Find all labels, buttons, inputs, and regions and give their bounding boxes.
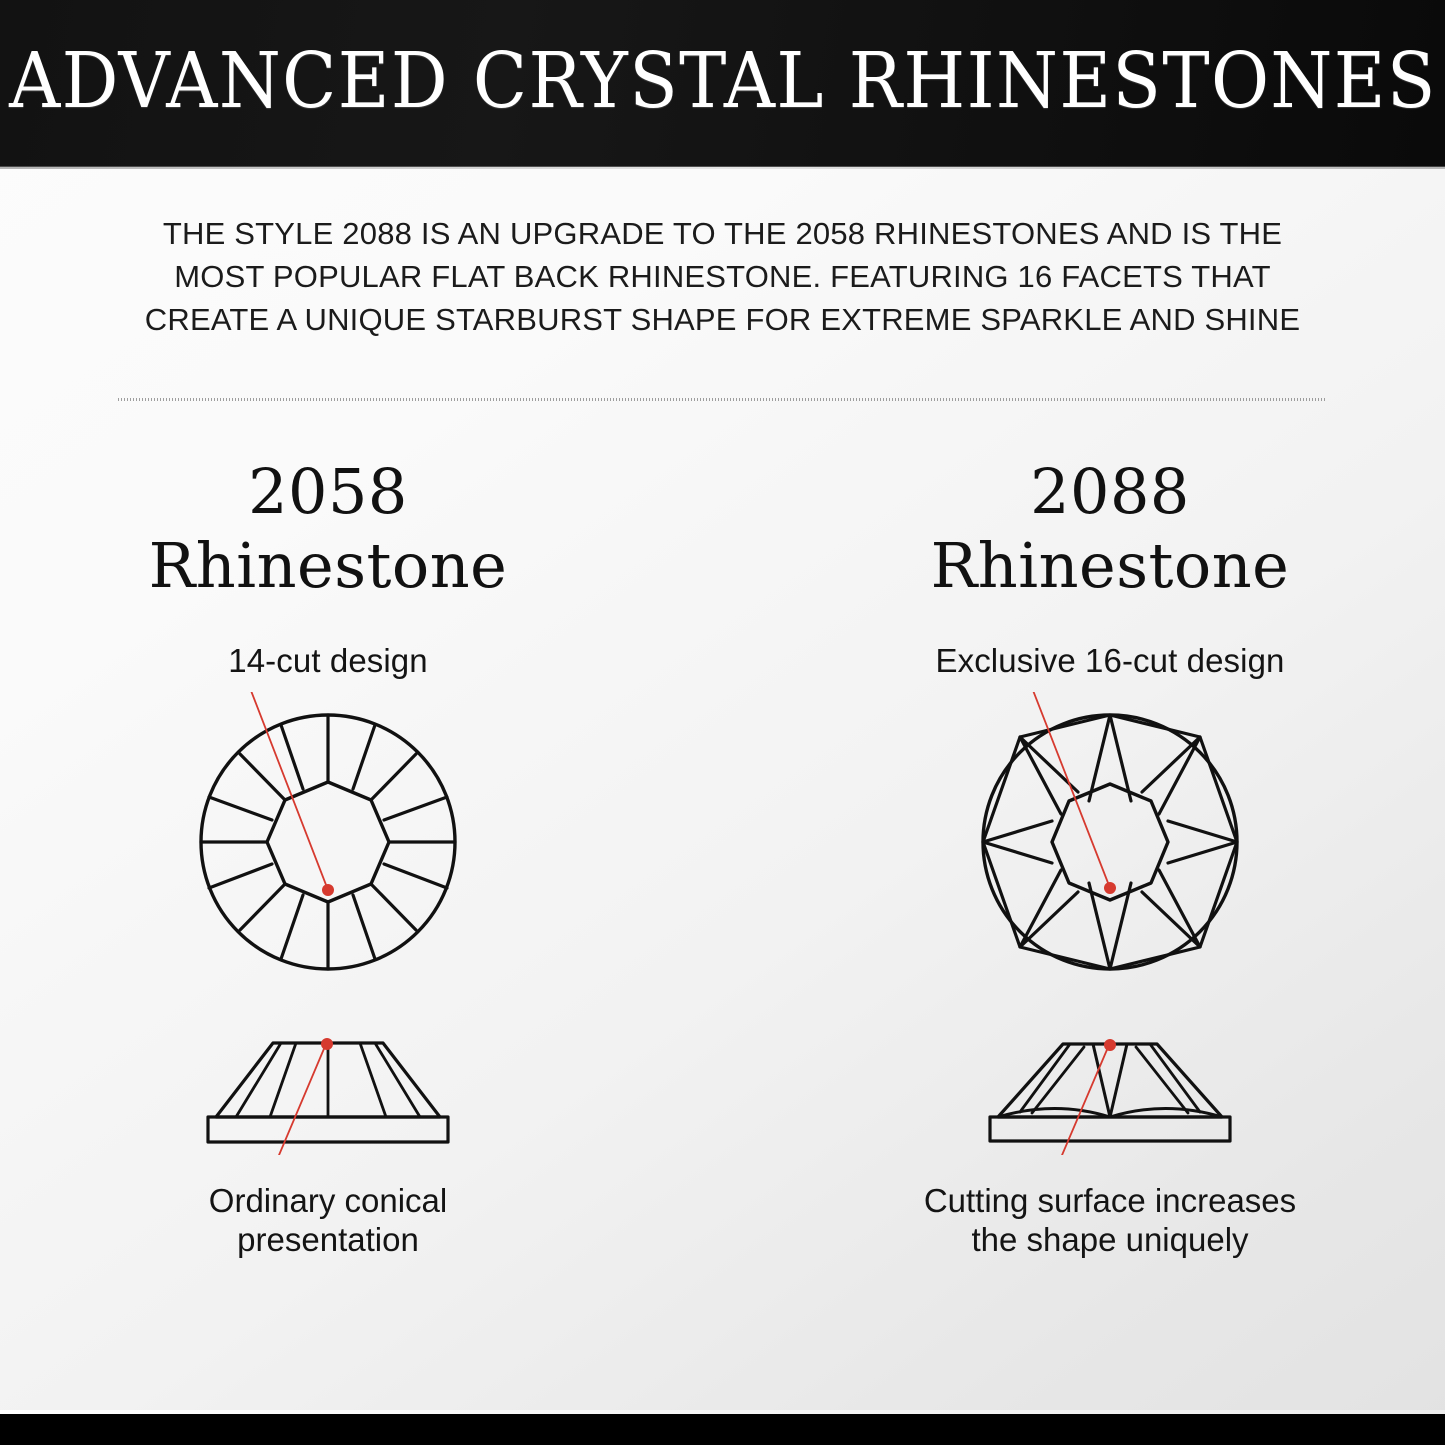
page-title: ADVANCED CRYSTAL RHINESTONES	[9, 43, 1437, 124]
crown-outline-2088	[998, 1044, 1222, 1117]
diagram-2088-side	[960, 1020, 1260, 1155]
footer-bar	[0, 1414, 1445, 1445]
side-facets-2088	[1020, 1044, 1200, 1113]
diagram-2058-side	[178, 1020, 478, 1155]
intro-line-3: CREATE A UNIQUE STARBURST SHAPE FOR EXTR…	[92, 298, 1353, 341]
column-2088-title: 2088 Rhinestone	[790, 455, 1430, 603]
intro-line-1: THE STYLE 2088 IS AN UPGRADE TO THE 2058…	[92, 212, 1353, 255]
intro-line-2: MOST POPULAR FLAT BACK RHINESTONE. FEATU…	[92, 255, 1353, 298]
header-banner: ADVANCED CRYSTAL RHINESTONES	[0, 0, 1445, 167]
center-notch-2088	[1093, 1044, 1127, 1117]
caption-2058-line-2: presentation	[8, 1220, 648, 1259]
cut-label-2058: 14-cut design	[8, 642, 648, 680]
facet-lines-2058	[201, 715, 455, 969]
diagram-2058-top	[163, 692, 493, 982]
sideview-2088	[790, 1020, 1430, 1155]
column-2088-title-word: Rhinestone	[790, 529, 1430, 603]
pointer-dot-side-2058	[321, 1038, 333, 1050]
sideview-2058	[8, 1020, 648, 1155]
base-slab-2058	[208, 1117, 448, 1142]
header-underline	[0, 166, 1445, 169]
section-divider	[118, 398, 1326, 401]
column-2088-title-number: 2088	[1030, 455, 1190, 528]
base-slab-2088	[990, 1117, 1230, 1141]
pointer-dot-2088	[1104, 882, 1116, 894]
topview-2058	[8, 692, 648, 972]
column-2058-title-number: 2058	[248, 455, 408, 528]
pointer-dot-2058	[322, 884, 334, 896]
caption-2058: Ordinary conical presentation	[8, 1181, 648, 1259]
infographic-page: ADVANCED CRYSTAL RHINESTONES THE STYLE 2…	[0, 0, 1445, 1445]
column-2058-title: 2058 Rhinestone	[8, 455, 648, 603]
cut-label-2088: Exclusive 16-cut design	[790, 642, 1430, 680]
column-2088: 2088 Rhinestone Exclusive 16-cut design	[790, 455, 1430, 1259]
topview-2088	[790, 692, 1430, 972]
column-2058-title-word: Rhinestone	[8, 529, 648, 603]
caption-2088: Cutting surface increases the shape uniq…	[790, 1181, 1430, 1259]
pointer-dot-side-2088	[1104, 1039, 1116, 1051]
diagram-2088-top	[945, 692, 1275, 982]
caption-2088-line-2: the shape uniquely	[790, 1220, 1430, 1259]
pointer-line-side-2088	[1042, 1045, 1109, 1155]
column-2058: 2058 Rhinestone 14-cut design	[8, 455, 648, 1259]
caption-2058-line-1: Ordinary conical	[209, 1182, 447, 1219]
intro-paragraph: THE STYLE 2088 IS AN UPGRADE TO THE 2058…	[92, 212, 1353, 341]
caption-2088-line-1: Cutting surface increases	[924, 1182, 1296, 1219]
girdle-circle-2088	[983, 715, 1237, 969]
